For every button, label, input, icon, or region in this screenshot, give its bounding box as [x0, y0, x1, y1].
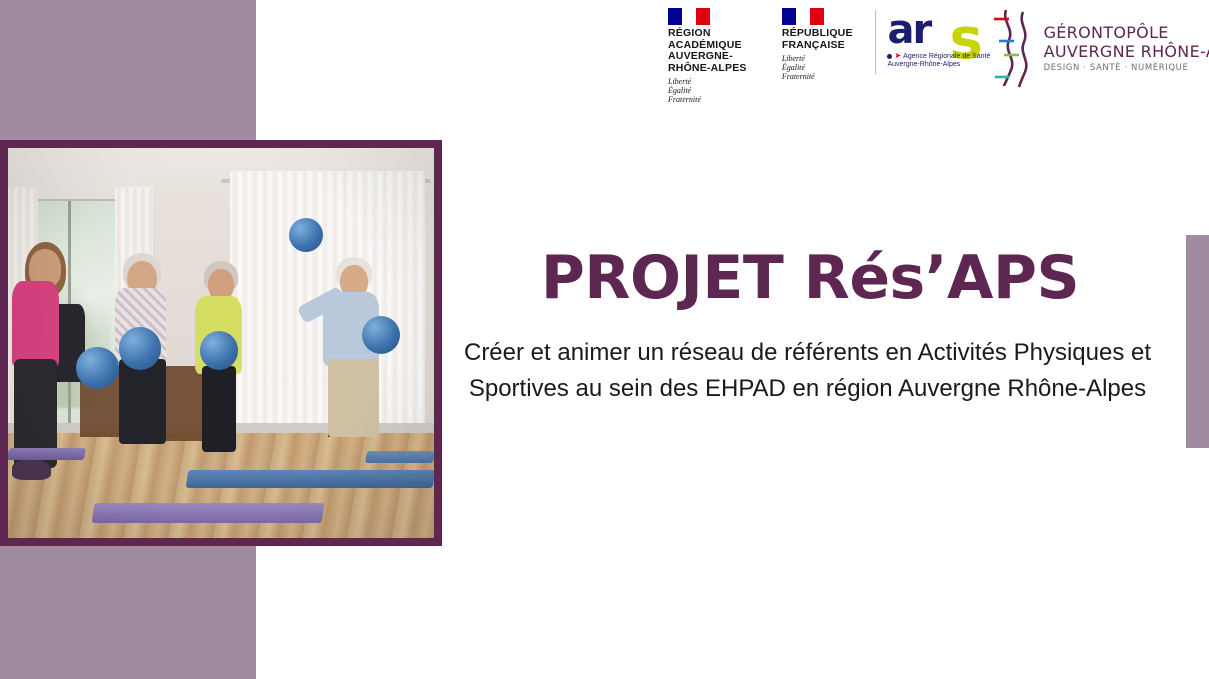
- institutional-logo-bar: RÉGION ACADÉMIQUE AUVERGNE- RHÔNE-ALPES …: [668, 8, 1209, 92]
- photo-exercise-ball: [362, 316, 400, 354]
- gerontopole-mark-icon: [992, 8, 1038, 88]
- region-academique-title: RÉGION ACADÉMIQUE AUVERGNE- RHÔNE-ALPES: [668, 28, 764, 74]
- ars-dot-icon: [887, 54, 892, 59]
- photo-instructor-body: [12, 281, 59, 367]
- photo-yoga-mat: [8, 448, 86, 460]
- ars-chevron-icon: ➤: [894, 52, 901, 60]
- activity-photo: [8, 148, 434, 538]
- gerontopole-line-3: DESIGN · SANTÉ · NUMÉRIQUE: [1044, 64, 1209, 73]
- ars-subtitle: Auvergne-Rhône-Alpes: [887, 61, 960, 69]
- french-flag-icon: [668, 8, 710, 25]
- right-decorative-bar: [1186, 235, 1209, 448]
- photo-frame: [0, 140, 442, 546]
- ars-wordmark-ar: ar: [887, 10, 930, 50]
- photo-yoga-mat: [186, 470, 434, 488]
- photo-yoga-mat: [92, 503, 325, 523]
- photo-exercise-ball: [76, 347, 119, 390]
- region-academique-devise: Liberté Égalité Fraternité: [668, 77, 764, 104]
- logo-divider: [875, 10, 876, 74]
- region-academique-logo: RÉGION ACADÉMIQUE AUVERGNE- RHÔNE-ALPES …: [668, 8, 764, 104]
- page-subtitle: Créer et animer un réseau de référents e…: [455, 335, 1160, 407]
- photo-participant-legs: [119, 359, 166, 445]
- gerontopole-line-1: GÉRONTOPÔLE: [1044, 23, 1209, 42]
- ars-logo: ar s ➤Agence Régionale de Santé Auvergne…: [887, 8, 977, 80]
- republique-francaise-devise: Liberté Égalité Fraternité: [782, 54, 853, 81]
- gerontopole-line-2: AUVERGNE RHÔNE-ALPES: [1044, 42, 1209, 61]
- photo-participant-legs: [202, 366, 236, 452]
- french-flag-icon: [782, 8, 824, 25]
- photo-exercise-ball: [119, 327, 162, 370]
- gerontopole-logo: GÉRONTOPÔLE AUVERGNE RHÔNE-ALPES DESIGN …: [992, 8, 1209, 88]
- ars-tagline: ➤Agence Régionale de Santé: [887, 52, 990, 61]
- page-title: PROJET Rés’APS: [460, 243, 1160, 313]
- republique-francaise-logo: RÉPUBLIQUE FRANÇAISE Liberté Égalité Fra…: [782, 8, 853, 81]
- photo-yoga-mat: [365, 451, 434, 463]
- photo-exercise-ball: [200, 331, 238, 369]
- ars-tagline-text: Agence Régionale de Santé: [903, 53, 990, 60]
- photo-participant-legs: [328, 359, 379, 437]
- photo-instructor-shoe: [12, 460, 50, 480]
- republique-francaise-title: RÉPUBLIQUE FRANÇAISE: [782, 28, 853, 51]
